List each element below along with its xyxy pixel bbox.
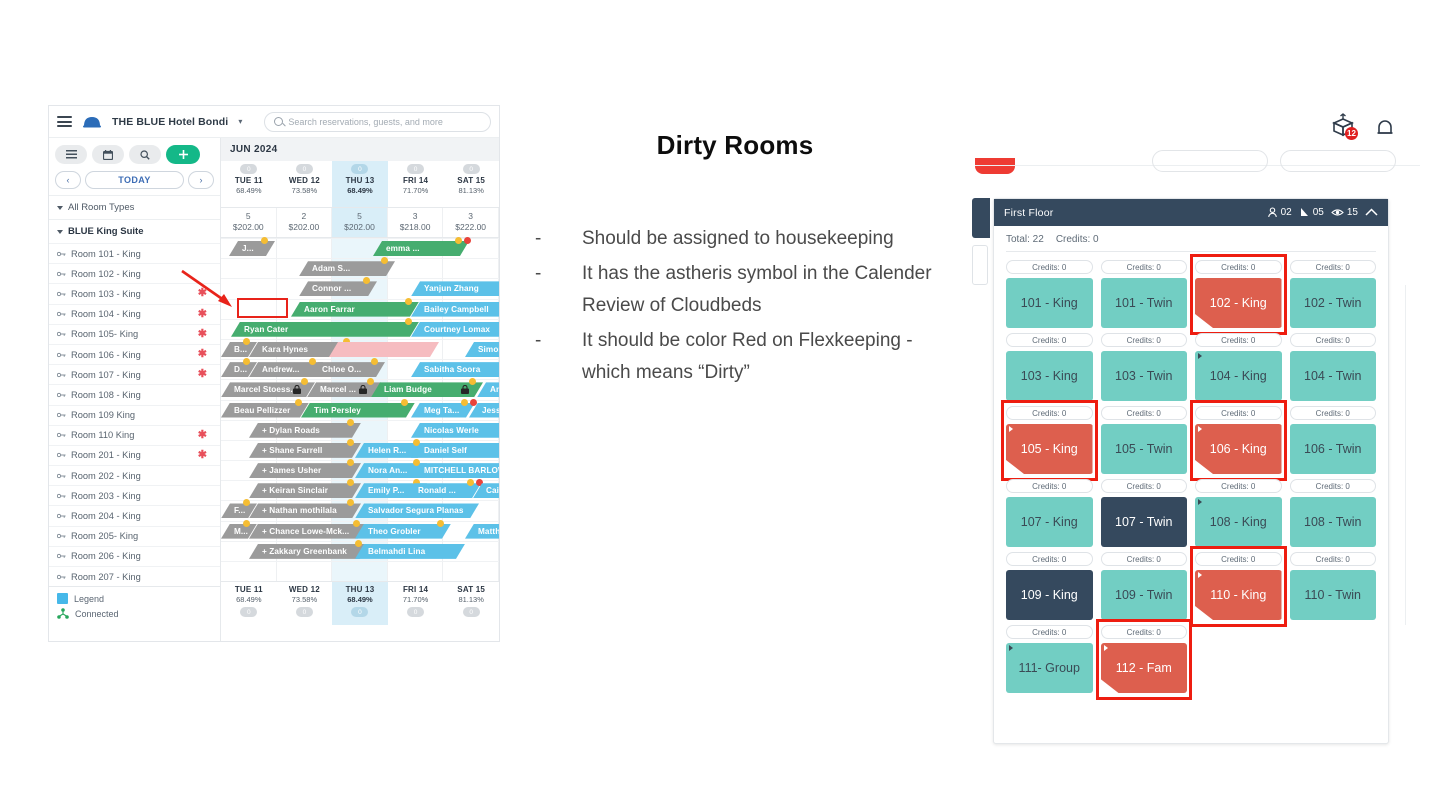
- room-row[interactable]: Room 104 - King✱: [49, 304, 220, 324]
- room-card[interactable]: Credits: 0111- Group: [1006, 625, 1093, 693]
- room-row[interactable]: Room 101 - King: [49, 243, 220, 263]
- rate-cell[interactable]: 5$202.00: [221, 208, 277, 237]
- connected-icon: [57, 608, 69, 619]
- filter-pill-a[interactable]: [1152, 150, 1268, 172]
- room-card[interactable]: Credits: 0103 - King: [1006, 333, 1093, 401]
- day-badge: 0: [351, 164, 368, 174]
- day-name: FRI 14: [388, 176, 444, 185]
- calendar-toolbar: [49, 138, 220, 167]
- rates-row: 5$202.002$202.005$202.003$218.003$222.00: [221, 208, 499, 238]
- chevron-down-icon[interactable]: ▾: [238, 117, 242, 126]
- room-card[interactable]: Credits: 0106 - King: [1195, 406, 1282, 474]
- room-credits: Credits: 0: [1290, 552, 1377, 566]
- room-number-label: 112 - Fam: [1116, 661, 1172, 675]
- availability-count: 5: [332, 211, 387, 221]
- room-number-label: 110 - King: [1210, 588, 1266, 602]
- room-card[interactable]: Credits: 0104 - Twin: [1290, 333, 1377, 401]
- rate-cell[interactable]: 5$202.00: [332, 208, 388, 237]
- guest-name: Adam S...: [312, 264, 350, 273]
- date-navigation: ‹ TODAY ›: [49, 167, 220, 195]
- room-label: Room 103 - King: [71, 289, 141, 299]
- room-number-label: 103 - King: [1021, 369, 1078, 383]
- lock-icon: [293, 381, 301, 390]
- add-reservation-button[interactable]: [166, 145, 200, 164]
- room-flag-icon: [1009, 645, 1013, 651]
- room-number-label: 111- Group: [1019, 661, 1080, 675]
- guest-name: Emily P...: [368, 486, 404, 495]
- grid-row: Connor ...Yanjun Zhang: [221, 278, 499, 298]
- red-tab-fragment: [975, 158, 1015, 174]
- room-tile[interactable]: 112 - Fam: [1101, 643, 1188, 693]
- dirty-asterisk-icon: ✱: [198, 450, 207, 461]
- grid-row: B...Kara HynesSimon: [221, 339, 499, 359]
- legend-color-swatch: [57, 593, 68, 604]
- filter-pill-b[interactable]: [1280, 150, 1396, 172]
- room-card[interactable]: Credits: 0105 - Twin: [1101, 406, 1188, 474]
- hotel-name: THE BLUE Hotel Bondi: [112, 116, 228, 128]
- days-footer-row: TUE 1168.49%0WED 1273.58%0THU 1368.49%0F…: [221, 581, 499, 625]
- reservation-bar[interactable]: + Shane Farrell: [249, 443, 361, 458]
- room-label: Room 201 - King: [71, 450, 141, 460]
- day-occupancy: 81.13%: [443, 186, 499, 195]
- room-number-label: 105 - King: [1021, 442, 1078, 456]
- room-card[interactable]: Credits: 0109 - Twin: [1101, 552, 1188, 620]
- day-column-footer[interactable]: THU 1368.49%0: [332, 582, 388, 625]
- day-column-footer[interactable]: SAT 1581.13%0: [443, 582, 499, 625]
- status-dot-yellow: [437, 520, 444, 527]
- day-badge: 0: [463, 164, 480, 174]
- calendar-search-button[interactable]: [129, 145, 161, 164]
- rate-cell[interactable]: 3$218.00: [388, 208, 444, 237]
- sidebar-tab-inactive[interactable]: [972, 245, 988, 285]
- search-placeholder: Search reservations, guests, and more: [288, 117, 443, 127]
- day-column-header[interactable]: 0THU 1368.49%: [332, 161, 388, 207]
- rate-price: $202.00: [277, 222, 332, 232]
- stat-views-value: 15: [1347, 207, 1358, 218]
- calendar-view-button[interactable]: [92, 145, 124, 164]
- day-badge: 0: [240, 607, 257, 617]
- day-name: SAT 15: [443, 176, 499, 185]
- room-tile[interactable]: 102 - King: [1195, 278, 1282, 328]
- guest-name: F...: [234, 506, 245, 515]
- guest-name: Simon: [478, 345, 499, 354]
- guest-name: + Keiran Sinclair: [262, 486, 328, 495]
- eye-icon: [1331, 207, 1344, 218]
- dirty-asterisk-icon: ✱: [198, 309, 207, 320]
- room-credits: Credits: 0: [1101, 333, 1188, 347]
- day-name: TUE 11: [221, 585, 277, 594]
- room-flag-icon: [1198, 572, 1202, 578]
- key-icon: [57, 330, 66, 338]
- reservation-bar[interactable]: Simon: [465, 342, 499, 357]
- room-card[interactable]: Credits: 0104 - King: [1195, 333, 1282, 401]
- room-row[interactable]: Room 108 - King: [49, 384, 220, 404]
- guest-name: Kara Hynes: [262, 345, 308, 354]
- room-card[interactable]: Credits: 0109 - King: [1006, 552, 1093, 620]
- reservation-bar[interactable]: J...: [229, 241, 275, 256]
- room-row[interactable]: Room 110 King✱: [49, 425, 220, 445]
- room-tile[interactable]: 109 - Twin: [1101, 570, 1188, 620]
- rate-price: $202.00: [332, 222, 387, 232]
- guest-name: Theo Grobler: [368, 527, 421, 536]
- day-column-header[interactable]: 0FRI 1471.70%: [388, 161, 444, 207]
- reservation-bar[interactable]: Salvador Segura Planas: [355, 503, 479, 518]
- bullet-text: It has the astheris symbol in the Calend…: [582, 258, 950, 323]
- room-label: Room 204 - King: [71, 511, 141, 521]
- room-credits: Credits: 0: [1006, 552, 1093, 566]
- room-number-label: 107 - Twin: [1115, 515, 1172, 529]
- room-types-filter[interactable]: All Room Types: [49, 195, 220, 219]
- reservation-bar[interactable]: Theo Grobler: [355, 524, 451, 539]
- dirty-asterisk-icon: ✱: [198, 329, 207, 340]
- reservation-bar[interactable]: Aaron Farrar: [291, 302, 419, 317]
- room-flag-icon: [1009, 426, 1013, 432]
- gift-box-icon[interactable]: 12: [1330, 113, 1356, 142]
- reservation-bar[interactable]: + James Usher: [249, 463, 361, 478]
- guest-name: MITCHELL BARLOW-: [424, 466, 499, 475]
- floor-panel-header[interactable]: First Floor 02 05 15: [994, 199, 1388, 226]
- room-row[interactable]: Room 204 - King: [49, 505, 220, 525]
- grid-row: Ryan CaterCourtney Lomax: [221, 319, 499, 339]
- grid-row: D...Andrew...Chloe O...Sabitha Soora: [221, 359, 499, 379]
- bullet-item: -It should be color Red on Flexkeeping -…: [520, 325, 950, 390]
- room-credits: Credits: 0: [1290, 479, 1377, 493]
- room-row[interactable]: Room 106 - King✱: [49, 344, 220, 364]
- lock-icon: [461, 381, 469, 390]
- room-tile[interactable]: 109 - King: [1006, 570, 1093, 620]
- day-column-header[interactable]: 0WED 1273.58%: [277, 161, 333, 207]
- stat-flags: 05: [1299, 207, 1324, 218]
- room-tile[interactable]: 103 - Twin: [1101, 351, 1188, 401]
- day-occupancy: 68.49%: [332, 595, 388, 604]
- day-occupancy: 71.70%: [388, 186, 444, 195]
- guest-name: Marcel ...: [320, 385, 356, 394]
- guest-name: + Shane Farrell: [262, 446, 322, 455]
- key-icon: [57, 371, 66, 379]
- key-icon: [57, 492, 66, 500]
- room-card[interactable]: Credits: 0105 - King: [1006, 406, 1093, 474]
- grid-row: + Keiran SinclairEmily P...Ronald ...Cai…: [221, 480, 499, 500]
- guest-name: Andrew...: [262, 365, 299, 374]
- room-tile[interactable]: 105 - King: [1006, 424, 1093, 474]
- bullet-text: Should be assigned to housekeeping: [582, 223, 894, 256]
- room-row[interactable]: Room 107 - King✱: [49, 364, 220, 384]
- flexkeeping-header-icons: 12: [1330, 113, 1396, 142]
- reservation-bar[interactable]: Tim Persley: [301, 403, 415, 418]
- room-tile[interactable]: 102 - Twin: [1290, 278, 1377, 328]
- room-card[interactable]: Credits: 0108 - Twin: [1290, 479, 1377, 547]
- guest-name: Belmahdi Lina: [368, 547, 425, 556]
- key-icon: [57, 391, 66, 399]
- room-row[interactable]: Room 206 - King: [49, 546, 220, 566]
- room-group-label: BLUE King Suite: [68, 226, 143, 237]
- room-credits: Credits: 0: [1195, 552, 1282, 566]
- room-card-grid: Credits: 0101 - KingCredits: 0101 - Twin…: [994, 252, 1388, 701]
- connected-item[interactable]: Connected: [57, 608, 212, 619]
- prev-date-button[interactable]: ‹: [55, 171, 81, 189]
- room-card[interactable]: Credits: 0103 - Twin: [1101, 333, 1188, 401]
- floor-stats: 02 05 15: [1267, 207, 1378, 218]
- dirty-asterisk-icon: ✱: [198, 288, 207, 299]
- day-name: TUE 11: [221, 176, 277, 185]
- room-credits: Credits: 0: [1290, 406, 1377, 420]
- today-button[interactable]: TODAY: [85, 171, 184, 189]
- room-credits: Credits: 0: [1101, 479, 1188, 493]
- room-tile[interactable]: 101 - King: [1006, 278, 1093, 328]
- reservation-bar[interactable]: MITCHELL BARLOW-: [411, 463, 499, 478]
- room-tile[interactable]: 108 - King: [1195, 497, 1282, 547]
- room-label: Room 207 - King: [71, 572, 141, 582]
- guest-name: + Chance Lowe-Mck...: [262, 527, 349, 536]
- room-card[interactable]: Credits: 0101 - King: [1006, 260, 1093, 328]
- status-dot-yellow: [461, 399, 468, 406]
- guest-name: Yanjun Zhang: [424, 284, 479, 293]
- guest-name: Daniel Self: [424, 446, 467, 455]
- reservation-bar[interactable]: Nicolas Werle: [411, 423, 499, 438]
- day-occupancy: 68.49%: [221, 595, 277, 604]
- day-badge: 0: [463, 607, 480, 617]
- day-name: WED 12: [277, 585, 333, 594]
- floor-name: First Floor: [1004, 207, 1053, 219]
- key-icon: [57, 431, 66, 439]
- day-column-footer[interactable]: TUE 1168.49%0: [221, 582, 277, 625]
- reservation-bar[interactable]: Matth: [465, 524, 499, 539]
- key-icon: [57, 532, 66, 540]
- reservation-bar[interactable]: + Chance Lowe-Mck...: [249, 524, 367, 539]
- guest-name: Ryan Cater: [244, 325, 288, 334]
- bullet-item: -Should be assigned to housekeeping: [520, 223, 950, 256]
- rate-cell[interactable]: 2$202.00: [277, 208, 333, 237]
- room-card[interactable]: Credits: 0101 - Twin: [1101, 260, 1188, 328]
- bullet-marker: -: [520, 325, 582, 390]
- room-tile[interactable]: 107 - Twin: [1101, 497, 1188, 547]
- key-icon: [57, 411, 66, 419]
- reservation-bar[interactable]: + Zakkary Greenbank: [249, 544, 369, 559]
- reservation-rows: J...emma ...Adam S...Connor ...Yanjun Zh…: [221, 238, 499, 581]
- room-card[interactable]: Credits: 0110 - King: [1195, 552, 1282, 620]
- day-column-header[interactable]: 0TUE 1168.49%: [221, 161, 277, 207]
- room-row[interactable]: Room 109 King: [49, 405, 220, 425]
- guest-name: + Dylan Roads: [262, 426, 320, 435]
- room-number-label: 106 - King: [1210, 442, 1267, 456]
- legend-label: Legend: [74, 594, 104, 604]
- guest-name: Liam Budge: [384, 385, 432, 394]
- status-dot-yellow: [261, 237, 268, 244]
- status-dot-yellow: [401, 399, 408, 406]
- status-dot-yellow: [355, 540, 362, 547]
- calendar-grid: JUN 2024 0TUE 1168.49%0WED 1273.58%0THU …: [221, 138, 499, 641]
- annotation-box-room-103: [237, 298, 288, 318]
- status-dot-yellow: [405, 318, 412, 325]
- reservation-bar[interactable]: + Keiran Sinclair: [249, 483, 361, 498]
- room-tile[interactable]: 104 - Twin: [1290, 351, 1377, 401]
- reservation-bar[interactable]: + Dylan Roads: [249, 423, 361, 438]
- room-number-label: 108 - Twin: [1304, 515, 1361, 529]
- room-card[interactable]: Credits: 0102 - Twin: [1290, 260, 1377, 328]
- hamburger-menu-icon[interactable]: [57, 116, 72, 127]
- room-credits: Credits: 0: [1195, 406, 1282, 420]
- cloudbeds-logo-icon: [82, 114, 102, 129]
- day-badge: 0: [407, 607, 424, 617]
- day-name: THU 13: [332, 585, 388, 594]
- flag-icon: [1299, 207, 1310, 218]
- search-input[interactable]: Search reservations, guests, and more: [264, 112, 491, 132]
- room-tile[interactable]: 111- Group: [1006, 643, 1093, 693]
- room-label: Room 205- King: [71, 531, 138, 541]
- day-column-footer[interactable]: FRI 1471.70%0: [388, 582, 444, 625]
- guest-name: Matth: [478, 527, 499, 536]
- room-card[interactable]: Credits: 0102 - King: [1195, 260, 1282, 328]
- room-credits: Credits: 0: [1101, 625, 1188, 639]
- gift-badge-count: 12: [1345, 127, 1358, 140]
- room-row[interactable]: Room 207 - King: [49, 566, 220, 586]
- day-name: SAT 15: [443, 585, 499, 594]
- key-icon: [57, 270, 66, 278]
- guest-name: M...: [234, 527, 248, 536]
- room-row[interactable]: Room 105- King✱: [49, 324, 220, 344]
- guest-name: Connor ...: [312, 284, 351, 293]
- guest-name: emma ...: [386, 244, 420, 253]
- room-label: Room 104 - King: [71, 309, 141, 319]
- day-column-header[interactable]: 0SAT 1581.13%: [443, 161, 499, 207]
- room-number-label: 107 - King: [1021, 515, 1078, 529]
- lock-icon: [359, 381, 367, 390]
- room-tile[interactable]: 103 - King: [1006, 351, 1093, 401]
- days-header-row: 0TUE 1168.49%0WED 1273.58%0THU 1368.49%0…: [221, 161, 499, 208]
- status-dot-yellow: [405, 298, 412, 305]
- page-title: Dirty Rooms: [520, 130, 950, 161]
- reservation-bar[interactable]: Yanjun Zhang: [411, 281, 499, 296]
- key-icon: [57, 351, 66, 359]
- guest-name: Anna: [490, 385, 499, 394]
- grid-row: Beau PellizzerTim PersleyMeg Ta...Jesse: [221, 400, 499, 420]
- availability-count: 2: [277, 211, 332, 221]
- room-tile[interactable]: 110 - Twin: [1290, 570, 1377, 620]
- room-card[interactable]: Credits: 0110 - Twin: [1290, 552, 1377, 620]
- rate-cell[interactable]: 3$222.00: [443, 208, 499, 237]
- room-row[interactable]: Room 203 - King: [49, 485, 220, 505]
- room-tile[interactable]: 110 - King: [1195, 570, 1282, 620]
- status-dot-yellow: [347, 459, 354, 466]
- day-badge: 0: [351, 607, 368, 617]
- day-occupancy: 81.13%: [443, 595, 499, 604]
- dirty-asterisk-icon: ✱: [198, 369, 207, 380]
- room-number-label: 103 - Twin: [1115, 369, 1172, 383]
- room-tile[interactable]: 106 - King: [1195, 424, 1282, 474]
- reservation-bar[interactable]: emma ...: [373, 241, 469, 256]
- guest-name: Meg Ta...: [424, 406, 459, 415]
- list-view-button[interactable]: [55, 145, 87, 164]
- room-number-label: 101 - Twin: [1115, 296, 1172, 310]
- reservation-bar[interactable]: Daniel Self: [411, 443, 499, 458]
- dirty-asterisk-icon: ✱: [198, 349, 207, 360]
- status-dot-yellow: [347, 419, 354, 426]
- room-number-label: 101 - King: [1021, 296, 1078, 310]
- room-tile[interactable]: 106 - Twin: [1290, 424, 1377, 474]
- room-types-label: All Room Types: [68, 202, 134, 213]
- guest-name: Salvador Segura Planas: [368, 506, 464, 515]
- chevron-up-icon[interactable]: [1365, 208, 1378, 217]
- key-icon: [57, 451, 66, 459]
- room-card[interactable]: Credits: 0106 - Twin: [1290, 406, 1377, 474]
- room-flag-icon: [1198, 353, 1202, 359]
- grid-row: + James UsherNora An...MITCHELL BARLOW-: [221, 460, 499, 480]
- bell-icon[interactable]: [1374, 116, 1396, 140]
- room-label: Room 107 - King: [71, 370, 141, 380]
- guest-name: Helen R...: [368, 446, 406, 455]
- reservation-bar[interactable]: Adam S...: [299, 261, 395, 276]
- key-icon: [57, 552, 66, 560]
- stat-flags-value: 05: [1313, 207, 1324, 218]
- room-tile[interactable]: 104 - King: [1195, 351, 1282, 401]
- legend-item[interactable]: Legend: [57, 593, 212, 604]
- room-label: Room 206 - King: [71, 551, 141, 561]
- room-number-label: 110 - Twin: [1304, 588, 1361, 602]
- grid-row: Adam S...: [221, 258, 499, 278]
- room-tile[interactable]: 107 - King: [1006, 497, 1093, 547]
- reservation-bar[interactable]: Courtney Lomax: [411, 322, 499, 337]
- room-tile[interactable]: 101 - Twin: [1101, 278, 1188, 328]
- guest-name: Nicolas Werle: [424, 426, 479, 435]
- room-tile[interactable]: 105 - Twin: [1101, 424, 1188, 474]
- bullet-marker: -: [520, 223, 582, 256]
- reservation-bar[interactable]: [329, 342, 439, 357]
- room-row[interactable]: Room 102 - King: [49, 263, 220, 283]
- guest-name: B...: [234, 345, 247, 354]
- grid-row: Marcel Stoess...Marcel ...Liam BudgeAnna: [221, 379, 499, 399]
- key-icon: [57, 472, 66, 480]
- reservation-bar[interactable]: + Nathan mothilala: [249, 503, 361, 518]
- sidebar-tab-active[interactable]: [972, 198, 990, 238]
- day-column-footer[interactable]: WED 1273.58%0: [277, 582, 333, 625]
- day-occupancy: 68.49%: [332, 186, 388, 195]
- day-name: THU 13: [332, 176, 388, 185]
- guest-name: Tim Persley: [314, 406, 361, 415]
- room-card[interactable]: Credits: 0108 - King: [1195, 479, 1282, 547]
- room-credits: Credits: 0: [1006, 406, 1093, 420]
- room-card[interactable]: Credits: 0107 - King: [1006, 479, 1093, 547]
- guest-name: + Zakkary Greenbank: [262, 547, 347, 556]
- room-card[interactable]: Credits: 0112 - Fam: [1101, 625, 1188, 693]
- room-row[interactable]: Room 201 - King✱: [49, 445, 220, 465]
- reservation-bar[interactable]: Ryan Cater: [231, 322, 419, 337]
- room-row[interactable]: Room 202 - King: [49, 465, 220, 485]
- room-row[interactable]: Room 103 - King✱: [49, 283, 220, 303]
- reservation-bar[interactable]: Sabitha Soora: [411, 362, 499, 377]
- person-icon: [1267, 207, 1278, 218]
- room-group-header[interactable]: BLUE King Suite: [49, 219, 220, 243]
- room-credits: Credits: 0: [1101, 260, 1188, 274]
- room-tile[interactable]: 108 - Twin: [1290, 497, 1377, 547]
- day-name: WED 12: [277, 176, 333, 185]
- reservation-bar[interactable]: Bailey Campbell: [411, 302, 499, 317]
- day-badge: 0: [240, 164, 257, 174]
- grid-row: [221, 561, 499, 581]
- room-list: Room 101 - KingRoom 102 - KingRoom 103 -…: [49, 243, 220, 586]
- reservation-bar[interactable]: Belmahdi Lina: [355, 544, 465, 559]
- room-row[interactable]: Room 205- King: [49, 526, 220, 546]
- room-number-label: 102 - King: [1210, 296, 1267, 310]
- room-label: Room 202 - King: [71, 471, 141, 481]
- room-credits: Credits: 0: [1101, 406, 1188, 420]
- room-card[interactable]: Credits: 0107 - Twin: [1101, 479, 1188, 547]
- day-badge: 0: [407, 164, 424, 174]
- room-credits: Credits: 0: [1006, 333, 1093, 347]
- next-date-button[interactable]: ›: [188, 171, 214, 189]
- cloudbeds-screenshot: THE BLUE Hotel Bondi ▾ Search reservatio…: [48, 105, 500, 642]
- flexkeeping-screenshot: 12 First Floor 02: [960, 105, 1420, 750]
- rate-price: $222.00: [443, 222, 498, 232]
